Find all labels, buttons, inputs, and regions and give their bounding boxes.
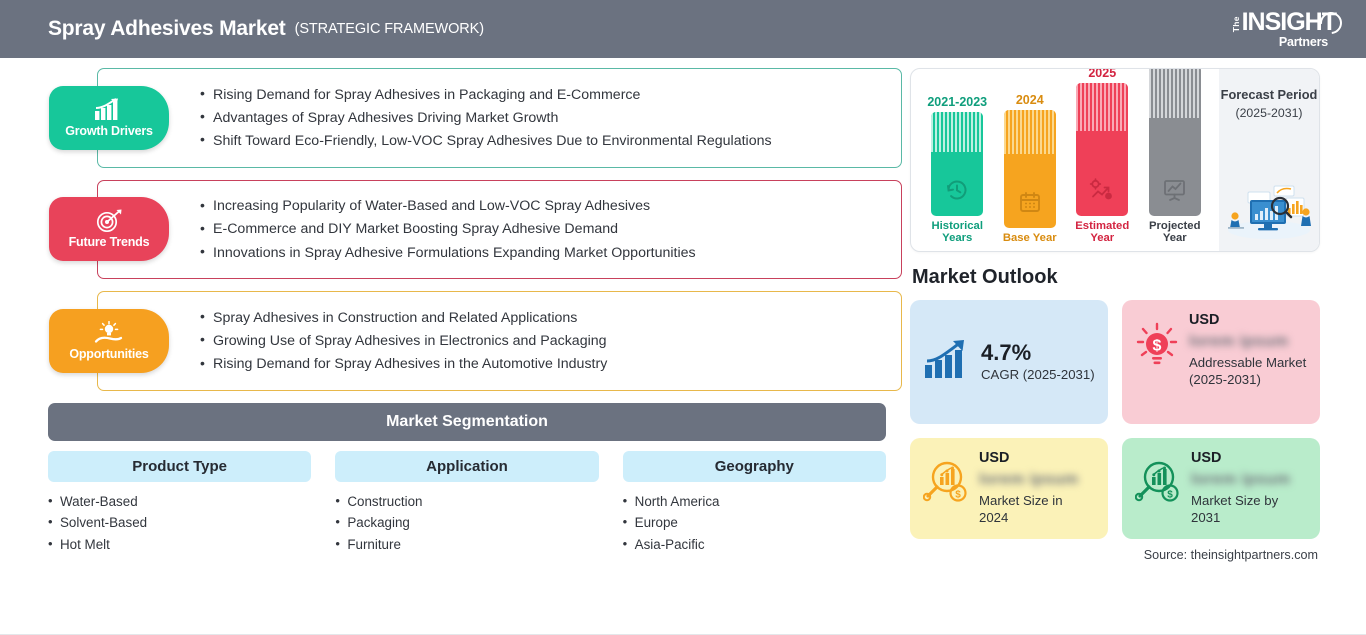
target-dart-icon xyxy=(95,209,123,233)
bar-caption: Projected Year xyxy=(1147,220,1203,245)
segmentation-list: Construction Packaging Furniture xyxy=(335,491,598,555)
outlook-card-body: USD lorem ipsum Market Size in 2024 xyxy=(979,450,1095,527)
forecast-timeline-card: 2021-2023 Historical Years xyxy=(910,68,1320,252)
presentation-chart-icon xyxy=(1162,178,1188,207)
bullet-item: Growing Use of Spray Adhesives in Electr… xyxy=(200,329,885,352)
segmentation-column-header: Product Type xyxy=(48,451,311,482)
timeline-bar-base: 2024 xyxy=(1002,93,1058,245)
list-item: North America xyxy=(623,491,886,512)
list-item: Furniture xyxy=(335,534,598,555)
source-attribution: Source: theinsightpartners.com xyxy=(910,548,1320,562)
bullet-item: Innovations in Spray Adhesive Formulatio… xyxy=(200,241,885,264)
bullet-list-future-trends: Increasing Popularity of Water-Based and… xyxy=(200,195,885,265)
bar-stripe-overlay xyxy=(931,112,983,152)
bar-stripe-overlay xyxy=(1149,68,1201,118)
bar-caption: Historical Years xyxy=(929,220,985,245)
bullet-list-growth-drivers: Rising Demand for Spray Adhesives in Pac… xyxy=(200,83,885,153)
growth-bar-chart-icon xyxy=(923,339,971,386)
svg-text:$: $ xyxy=(1167,490,1173,501)
outlook-card-market-size-2031[interactable]: $ USD lorem ipsum Market Size by 2031 xyxy=(1122,438,1320,539)
badge-label: Future Trends xyxy=(69,235,150,249)
bar-chart-arrow-icon xyxy=(94,98,124,122)
page-subtitle: (STRATEGIC FRAMEWORK) xyxy=(295,21,484,37)
segmentation-column-header: Application xyxy=(335,451,598,482)
calendar-icon xyxy=(1018,190,1042,219)
redacted-value: lorem ipsum xyxy=(1189,333,1307,351)
outlook-card-body: 4.7% CAGR (2025-2031) xyxy=(981,341,1095,384)
segmentation-column-product-type: Product Type Water-Based Solvent-Based H… xyxy=(48,451,311,555)
timeline-bars: 2021-2023 Historical Years xyxy=(911,69,1219,251)
insight-partners-logo: The INSIGHT Partners xyxy=(1228,10,1342,49)
magnifier-bar-chart-dollar-icon: $ xyxy=(1135,450,1181,509)
bar-caption: Estimated Year xyxy=(1074,220,1130,245)
redacted-value: lorem ipsum xyxy=(979,471,1095,489)
page-header: Spray Adhesives Market (STRATEGIC FRAMEW… xyxy=(0,0,1366,58)
badge-label: Growth Drivers xyxy=(65,124,153,138)
bar-stripe-overlay xyxy=(1076,83,1128,131)
market-segmentation-title: Market Segmentation xyxy=(48,403,886,441)
market-size-2031-caption: Market Size by 2031 xyxy=(1191,493,1307,527)
timeline-bar-projected: 2031 Projected Year xyxy=(1147,68,1203,245)
forecast-period-range: (2025-2031) xyxy=(1236,106,1303,120)
forecast-period-title: Forecast Period xyxy=(1221,87,1318,104)
panel-opportunities: Opportunities Spray Adhesives in Constru… xyxy=(97,291,902,391)
bullet-item: Increasing Popularity of Water-Based and… xyxy=(200,195,885,218)
segmentation-column-geography: Geography North America Europe Asia-Paci… xyxy=(623,451,886,555)
badge-label: Opportunities xyxy=(69,347,148,361)
redacted-value: lorem ipsum xyxy=(1191,471,1307,489)
market-outlook-cards: 4.7% CAGR (2025-2031) $ xyxy=(910,300,1320,539)
market-outlook-title: Market Outlook xyxy=(912,266,1320,289)
analytics-illustration xyxy=(1222,178,1316,245)
bullet-item: Advantages of Spray Adhesives Driving Ma… xyxy=(200,106,885,129)
bar-shape xyxy=(1004,110,1056,228)
list-item: Packaging xyxy=(335,512,598,533)
lightbulb-dollar-icon: $ xyxy=(1135,312,1179,375)
cagr-value: 4.7% xyxy=(981,341,1095,364)
bar-shape xyxy=(1149,68,1201,216)
bullet-list-opportunities: Spray Adhesives in Construction and Rela… xyxy=(200,306,885,376)
list-item: Solvent-Based xyxy=(48,512,311,533)
bar-caption: Base Year xyxy=(1003,232,1057,245)
lightbulb-hand-icon xyxy=(94,321,124,345)
page-body: Growth Drivers Rising Demand for Spray A… xyxy=(0,58,1366,635)
badge-growth-drivers[interactable]: Growth Drivers xyxy=(49,86,169,150)
right-column: 2021-2023 Historical Years xyxy=(902,68,1366,635)
bar-shape xyxy=(1076,83,1128,216)
page-title: Spray Adhesives Market xyxy=(48,17,286,41)
timeline-bar-estimated: 2025 Estimated xyxy=(1074,68,1130,245)
currency-label: USD xyxy=(979,450,1095,466)
magnifier-bar-chart-dollar-icon: $ xyxy=(923,450,969,509)
history-clock-icon xyxy=(945,178,969,207)
bullet-item: Shift Toward Eco-Friendly, Low-VOC Spray… xyxy=(200,129,885,152)
bullet-item: Rising Demand for Spray Adhesives in Pac… xyxy=(200,83,885,106)
list-item: Asia-Pacific xyxy=(623,534,886,555)
bar-year-label: 2024 xyxy=(1016,93,1044,107)
outlook-card-body: USD lorem ipsum Addressable Market (2025… xyxy=(1189,312,1307,389)
bar-year-label: 2021-2023 xyxy=(927,95,987,109)
list-item: Europe xyxy=(623,512,886,533)
forecast-period-pane: Forecast Period (2025-2031) xyxy=(1219,69,1319,251)
bullet-item: Rising Demand for Spray Adhesives in the… xyxy=(200,353,885,376)
list-item: Construction xyxy=(335,491,598,512)
segmentation-column-application: Application Construction Packaging Furni… xyxy=(335,451,598,555)
segmentation-columns: Product Type Water-Based Solvent-Based H… xyxy=(48,451,886,555)
left-column: Growth Drivers Rising Demand for Spray A… xyxy=(0,68,902,635)
bullet-item: Spray Adhesives in Construction and Rela… xyxy=(200,306,885,329)
segmentation-list: Water-Based Solvent-Based Hot Melt xyxy=(48,491,311,555)
bar-shape xyxy=(931,112,983,216)
svg-text:$: $ xyxy=(955,490,961,501)
list-item: Hot Melt xyxy=(48,534,311,555)
badge-opportunities[interactable]: Opportunities xyxy=(49,309,169,373)
outlook-card-body: USD lorem ipsum Market Size by 2031 xyxy=(1191,450,1307,527)
bullet-item: E-Commerce and DIY Market Boosting Spray… xyxy=(200,218,885,241)
estimate-chart-icon xyxy=(1089,178,1115,207)
outlook-card-market-size-2024[interactable]: $ USD lorem ipsum Market Size in 2024 xyxy=(910,438,1108,539)
outlook-card-cagr[interactable]: 4.7% CAGR (2025-2031) xyxy=(910,300,1108,424)
bar-year-label: 2025 xyxy=(1088,68,1116,80)
svg-text:$: $ xyxy=(1153,338,1162,355)
currency-label: USD xyxy=(1191,450,1307,466)
logo-partners-text: Partners xyxy=(1279,36,1328,49)
market-size-2024-caption: Market Size in 2024 xyxy=(979,493,1095,527)
segmentation-list: North America Europe Asia-Pacific xyxy=(623,491,886,555)
currency-label: USD xyxy=(1189,312,1307,328)
timeline-bar-historical: 2021-2023 Historical Years xyxy=(929,95,985,245)
badge-future-trends[interactable]: Future Trends xyxy=(49,197,169,261)
panel-future-trends: Future Trends Increasing Popularity of W… xyxy=(97,180,902,280)
outlook-card-addressable-market[interactable]: $ USD lorem ipsum Addressable Market (20… xyxy=(1122,300,1320,424)
list-item: Water-Based xyxy=(48,491,311,512)
cagr-caption: CAGR (2025-2031) xyxy=(981,367,1095,384)
logo-the-text: The xyxy=(1231,17,1240,33)
bar-stripe-overlay xyxy=(1004,110,1056,154)
addressable-market-caption: Addressable Market (2025-2031) xyxy=(1189,355,1307,389)
panel-growth-drivers: Growth Drivers Rising Demand for Spray A… xyxy=(97,68,902,168)
segmentation-column-header: Geography xyxy=(623,451,886,482)
